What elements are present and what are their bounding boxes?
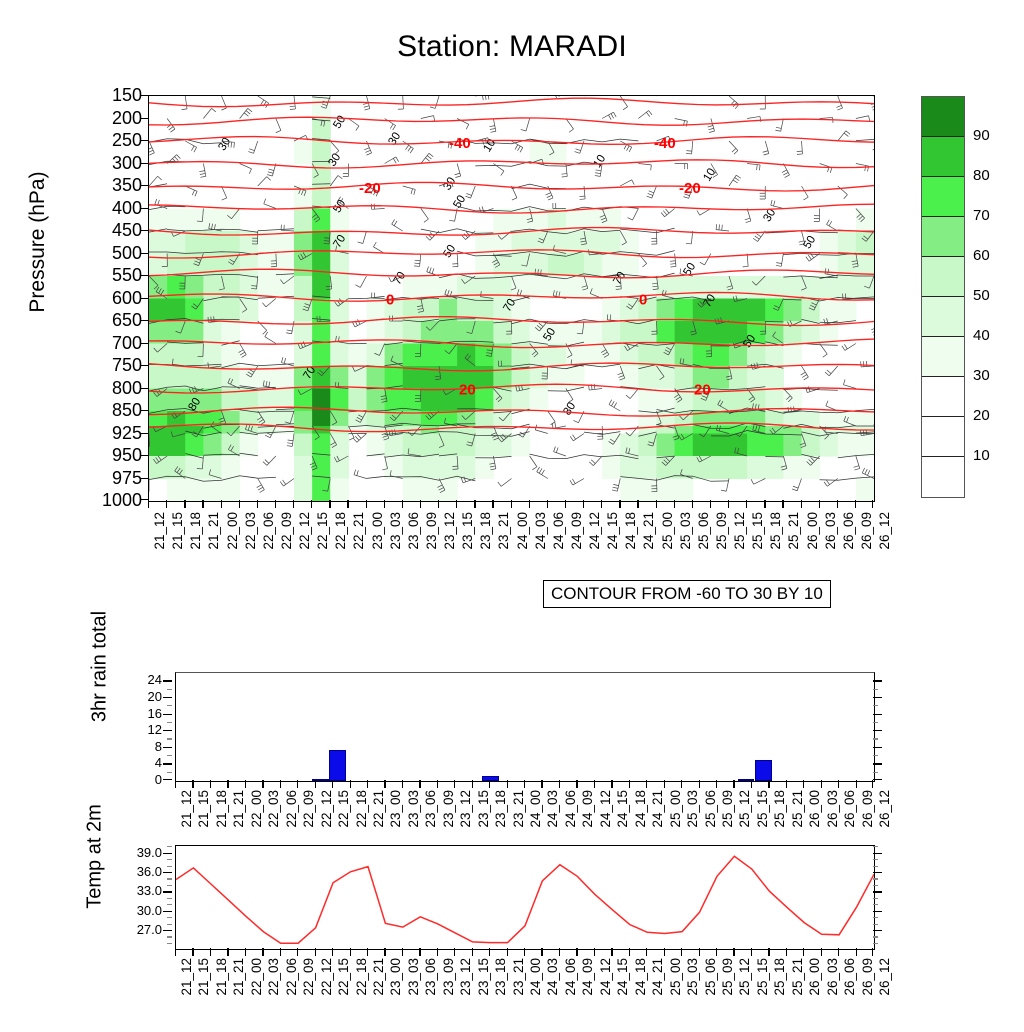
temp-tick-label: 39.0 [137,846,162,859]
x-axis-label: 26_06 [843,958,857,996]
rain-tick-label: 20 [148,690,162,703]
temp-minor-tick [167,904,172,905]
x-tick-mark [192,780,193,788]
x-axis-label: 23_12 [459,958,473,996]
x-axis-label: 25_03 [679,512,693,550]
x-tick-mark [350,780,351,788]
pressure-tick-label: 150 [82,86,142,104]
x-tick-mark [166,500,167,508]
rain-tick-mark [163,763,172,764]
x-axis-label: 23_18 [494,958,508,996]
colorbar-label: 90 [973,128,990,143]
rain-tick-label: 12 [148,723,162,736]
rain-right-tick [873,763,882,764]
pressure-tick-label: 500 [82,244,142,262]
x-tick-mark [733,948,734,956]
x-tick-mark [293,500,294,508]
x-axis-label: 22_06 [285,790,299,828]
rain-right-tick [873,747,882,748]
x-tick-mark [821,948,822,956]
temp-right-tick [873,872,882,873]
x-tick-mark [611,780,612,788]
x-tick-mark [768,948,769,956]
x-tick-mark [175,780,176,788]
pressure-tick-label: 1000 [82,491,142,509]
x-axis-label: 25_18 [769,512,783,550]
x-tick-mark [311,500,312,508]
rain-right-tick [873,772,878,773]
x-axis-label: 21_21 [232,790,246,828]
temp-line [176,856,874,943]
x-tick-mark [681,948,682,956]
x-axis-label: 23_18 [479,512,493,550]
colorbar-label: 30 [973,368,990,383]
x-tick-mark [838,948,839,956]
x-axis-label: 22_00 [226,512,240,550]
pressure-tick-mark [140,298,148,299]
temp-right-tick [873,846,878,847]
x-axis-label: 23_21 [497,512,511,550]
x-tick-mark [594,948,595,956]
pressure-tick-mark [140,140,148,141]
x-axis-label: 24_00 [516,512,530,550]
x-tick-mark [541,948,542,956]
rain-tick-label: 8 [155,740,162,753]
pressure-tick-mark [140,185,148,186]
rain-right-tick [873,705,878,706]
x-tick-mark [420,500,421,508]
svg-text:30: 30 [216,136,233,153]
x-axis-label: 22_00 [250,790,264,828]
x-axis-label: 25_12 [738,790,752,828]
x-axis-label: 25_21 [787,512,801,550]
x-tick-mark [437,948,438,956]
x-axis-label: 24_06 [564,790,578,828]
x-tick-mark [629,948,630,956]
temp-tick-label: 36.0 [137,865,162,878]
x-tick-mark [692,500,693,508]
rain-minor-tick [167,772,172,773]
x-tick-mark [728,500,729,508]
rain-right-tick [873,730,882,731]
colorbar-label: 70 [973,208,990,223]
x-tick-mark [489,780,490,788]
x-axis-label: 22_03 [244,512,258,550]
x-axis-label: 21_12 [153,512,167,550]
rain-y-tick-labels: 24201612840 [120,672,172,780]
x-tick-mark [837,500,838,508]
x-tick-mark [332,780,333,788]
colorbar-label: 10 [973,448,990,463]
x-tick-mark [872,500,873,508]
x-tick-mark [297,780,298,788]
x-axis-label: 23_12 [459,790,473,828]
sounding-contour-panel[interactable]: 3050305030103050707050705070507050807080… [148,95,875,502]
temp-x-axis-labels: 21_1221_1521_1821_2122_0022_0322_0622_09… [175,958,873,1032]
x-tick-mark [716,780,717,788]
x-axis-label: 26_12 [878,790,892,828]
x-axis-label: 23_09 [425,512,439,550]
x-tick-mark [576,780,577,788]
x-tick-mark [275,500,276,508]
x-tick-mark [472,780,473,788]
x-axis-label: 23_18 [494,790,508,828]
x-tick-mark [559,948,560,956]
x-axis-label: 26_09 [860,512,874,550]
x-axis-label: 22_06 [262,512,276,550]
x-axis-label: 26_06 [843,790,857,828]
x-tick-mark [221,500,222,508]
x-axis-label: 21_12 [180,958,194,996]
x-tick-mark [437,780,438,788]
temp-minor-tick [167,898,172,899]
x-tick-mark [347,500,348,508]
colorbar-label: 20 [973,408,990,423]
x-axis-label: 26_09 [861,958,875,996]
x-axis-label: 22_00 [250,958,264,996]
temp-right-tick [873,898,878,899]
x-tick-mark [565,500,566,508]
pressure-tick-label: 950 [82,446,142,464]
x-axis-label: 22_12 [320,958,334,996]
temp-minor-tick [167,878,172,879]
x-tick-mark [786,948,787,956]
x-axis-label: 26_00 [808,790,822,828]
svg-text:-20: -20 [679,180,701,197]
x-axis-label: 24_15 [616,958,630,996]
x-tick-mark [699,948,700,956]
x-axis-label: 22_18 [355,958,369,996]
x-tick-mark [782,500,783,508]
x-axis-label: 23_15 [461,512,475,550]
main-x-axis-labels: 21_1221_1521_1821_2122_0022_0322_0622_09… [148,512,873,586]
x-axis-label: 23_09 [442,958,456,996]
temp-right-tick [873,878,878,879]
pressure-tick-mark [140,365,148,366]
x-axis-label: 21_12 [180,790,194,828]
x-tick-mark [856,948,857,956]
pressure-tick-label: 975 [82,469,142,487]
rain-x-tick-marks [175,780,873,789]
x-axis-label: 22_18 [334,512,348,550]
x-tick-mark [175,948,176,956]
x-axis-label: 24_18 [634,790,648,828]
colorbar-label: 50 [973,288,990,303]
x-axis-label: 23_21 [512,790,526,828]
pressure-tick-mark [140,208,148,209]
x-axis-label: 22_09 [302,790,316,828]
svg-text:20: 20 [694,382,711,399]
pressure-tick-mark [140,478,148,479]
x-axis-label: 21_15 [171,512,185,550]
rain-tick-label: 24 [148,673,162,686]
x-tick-mark [454,780,455,788]
x-axis-label: 22_21 [372,958,386,996]
temp-right-tick [873,859,878,860]
pressure-tick-label: 750 [82,356,142,374]
rain-tick-mark [163,779,172,780]
temp-right-tick [873,891,882,892]
svg-text:-40: -40 [654,135,676,152]
x-tick-mark [402,500,403,508]
rain-right-tick [873,680,882,681]
x-axis-label: 23_09 [442,790,456,828]
temp-line-svg [176,846,874,949]
rain-bar[interactable] [329,750,346,781]
x-axis-label: 22_09 [302,958,316,996]
humidity-shading [149,96,874,501]
x-tick-mark [367,780,368,788]
x-axis-label: 23_03 [407,790,421,828]
temp-tick-label: 27.0 [137,923,162,936]
x-axis-label: 23_06 [424,790,438,828]
x-tick-mark [262,948,263,956]
x-tick-mark [803,948,804,956]
pressure-tick-mark [140,95,148,96]
x-axis-label: 25_18 [773,790,787,828]
temp-minor-tick [167,885,172,886]
pressure-tick-mark [140,320,148,321]
x-axis-label: 23_00 [389,958,403,996]
x-axis-label: 21_18 [215,790,229,828]
rain-tick-label: 16 [148,707,162,720]
x-axis-label: 25_03 [686,790,700,828]
rain-bar[interactable] [755,760,772,781]
rain-right-tick [873,722,878,723]
x-axis-label: 23_21 [512,958,526,996]
pressure-tick-mark [140,253,148,254]
x-tick-mark [384,500,385,508]
temp-minor-tick [167,924,172,925]
pressure-tick-label: 550 [82,266,142,284]
x-tick-mark [619,500,620,508]
x-tick-mark [529,500,530,508]
temp-minor-tick [167,846,172,847]
x-tick-mark [454,948,455,956]
main-y-tick-labels: 1502002503003504004505005506006507007508… [78,95,142,500]
temp-minor-tick [167,917,172,918]
x-axis-label: 24_15 [606,512,620,550]
pressure-tick-label: 450 [82,221,142,239]
x-axis-label: 26_09 [861,790,875,828]
x-tick-mark [245,948,246,956]
temp-minor-tick [167,859,172,860]
svg-text:-20: -20 [359,180,381,197]
x-tick-mark [768,780,769,788]
colorbar-label: 60 [973,248,990,263]
svg-text:30: 30 [386,130,403,147]
svg-text:10: 10 [481,137,498,154]
temp-line-panel[interactable] [175,845,875,950]
x-tick-mark [492,500,493,508]
x-tick-mark [245,780,246,788]
x-axis-label: 21_18 [189,512,203,550]
x-tick-mark [637,500,638,508]
x-axis-label: 24_00 [529,958,543,996]
x-axis-label: 24_15 [616,790,630,828]
x-axis-label: 24_03 [546,790,560,828]
x-axis-label: 24_00 [529,790,543,828]
x-axis-label: 24_18 [634,958,648,996]
colorbar-tick-labels: 908070605040302010 [921,96,1011,496]
x-tick-mark [716,948,717,956]
x-tick-mark [855,500,856,508]
x-tick-mark [746,500,747,508]
pressure-tick-label: 350 [82,176,142,194]
x-tick-mark [710,500,711,508]
rain-right-tick [873,697,882,698]
rain-minor-tick [167,738,172,739]
contour-interval-note: CONTOUR FROM -60 TO 30 BY 10 [543,580,831,608]
x-axis-label: 24_09 [581,958,595,996]
x-tick-mark [456,500,457,508]
x-tick-mark [227,780,228,788]
x-axis-label: 24_06 [552,512,566,550]
x-tick-mark [646,948,647,956]
x-axis-label: 25_12 [738,958,752,996]
x-tick-mark [239,500,240,508]
pressure-tick-mark [140,230,148,231]
x-axis-label: 25_06 [704,790,718,828]
x-tick-mark [384,780,385,788]
x-axis-label: 24_12 [599,958,613,996]
rain-minor-tick [167,689,172,690]
pressure-tick-label: 600 [82,289,142,307]
x-tick-mark [367,948,368,956]
x-axis-label: 24_21 [642,512,656,550]
x-tick-mark [803,780,804,788]
pressure-tick-label: 925 [82,424,142,442]
x-axis-label: 23_03 [407,958,421,996]
pressure-tick-mark [140,499,148,500]
x-tick-mark [751,948,752,956]
rain-right-tick [873,738,878,739]
x-tick-mark [664,948,665,956]
x-tick-mark [192,948,193,956]
x-axis-label: 26_12 [878,958,892,996]
colorbar-label: 40 [973,328,990,343]
temp-right-tick [873,866,878,867]
x-tick-mark [315,780,316,788]
x-axis-label: 23_06 [424,958,438,996]
x-tick-mark [786,780,787,788]
temp-y-tick-labels: 39.036.033.030.027.0 [118,845,172,948]
temp-tick-mark [163,911,172,912]
x-tick-mark [329,500,330,508]
x-axis-label: 26_00 [806,512,820,550]
x-tick-mark [594,780,595,788]
x-tick-mark [280,780,281,788]
x-tick-mark [438,500,439,508]
x-axis-label: 26_12 [878,512,892,550]
x-tick-mark [819,500,820,508]
x-axis-label: 25_03 [686,958,700,996]
x-tick-mark [872,780,873,788]
x-tick-mark [629,780,630,788]
svg-text:0: 0 [639,292,647,309]
rain-tick-mark [163,697,172,698]
x-axis-label: 25_06 [697,512,711,550]
x-tick-mark [764,500,765,508]
x-axis-label: 24_09 [581,790,595,828]
temp-right-tick [873,885,878,886]
x-axis-label: 24_21 [651,958,665,996]
rain-y-axis-label: 3hr rain total [89,572,112,762]
temp-right-tick [873,904,878,905]
x-axis-label: 22_12 [298,512,312,550]
x-axis-label: 25_09 [721,958,735,996]
x-tick-mark [559,780,560,788]
x-tick-mark [699,780,700,788]
x-axis-label: 26_03 [824,512,838,550]
x-tick-mark [297,948,298,956]
x-tick-mark [419,948,420,956]
x-axis-label: 22_21 [372,790,386,828]
rain-right-tick [873,755,878,756]
x-tick-mark [489,948,490,956]
main-y-axis-label: Pressure (hPa) [26,142,50,342]
svg-text:50: 50 [331,114,348,131]
x-axis-label: 25_09 [721,790,735,828]
x-axis-label: 22_06 [285,958,299,996]
rain-right-tick [873,714,882,715]
x-tick-mark [402,780,403,788]
x-tick-mark [511,500,512,508]
x-axis-label: 23_03 [389,512,403,550]
x-axis-label: 23_12 [443,512,457,550]
x-tick-mark [148,500,149,508]
x-tick-mark [384,948,385,956]
pressure-tick-mark [140,455,148,456]
temp-y-axis-label: Temp at 2m [84,757,107,957]
main-x-tick-marks [148,500,873,509]
rain-tick-label: 4 [155,756,162,769]
svg-text:80: 80 [561,400,578,417]
x-axis-label: 24_06 [564,958,578,996]
rain-right-tick-marks [873,672,885,780]
pressure-tick-label: 300 [82,154,142,172]
colorbar-label: 80 [973,168,990,183]
x-tick-mark [474,500,475,508]
pressure-tick-label: 250 [82,131,142,149]
rain-tick-mark [163,747,172,748]
x-tick-mark [472,948,473,956]
x-tick-mark [751,780,752,788]
x-tick-mark [838,780,839,788]
x-axis-label: 22_18 [355,790,369,828]
pressure-tick-mark [140,163,148,164]
x-axis-label: 26_03 [826,958,840,996]
x-axis-label: 25_09 [715,512,729,550]
x-axis-label: 25_00 [661,512,675,550]
x-axis-label: 25_00 [669,958,683,996]
x-tick-mark [547,500,548,508]
x-tick-mark [856,780,857,788]
x-tick-mark [681,780,682,788]
rain-bar-panel[interactable] [175,672,875,782]
x-axis-label: 24_12 [588,512,602,550]
temp-tick-label: 30.0 [137,904,162,917]
x-axis-label: 23_00 [371,512,385,550]
x-tick-mark [402,948,403,956]
temp-right-tick [873,936,878,937]
x-tick-mark [583,500,584,508]
pressure-tick-mark [140,118,148,119]
x-axis-label: 24_18 [624,512,638,550]
temp-tick-mark [163,872,172,873]
rain-tick-mark [163,714,172,715]
x-axis-label: 21_21 [232,958,246,996]
